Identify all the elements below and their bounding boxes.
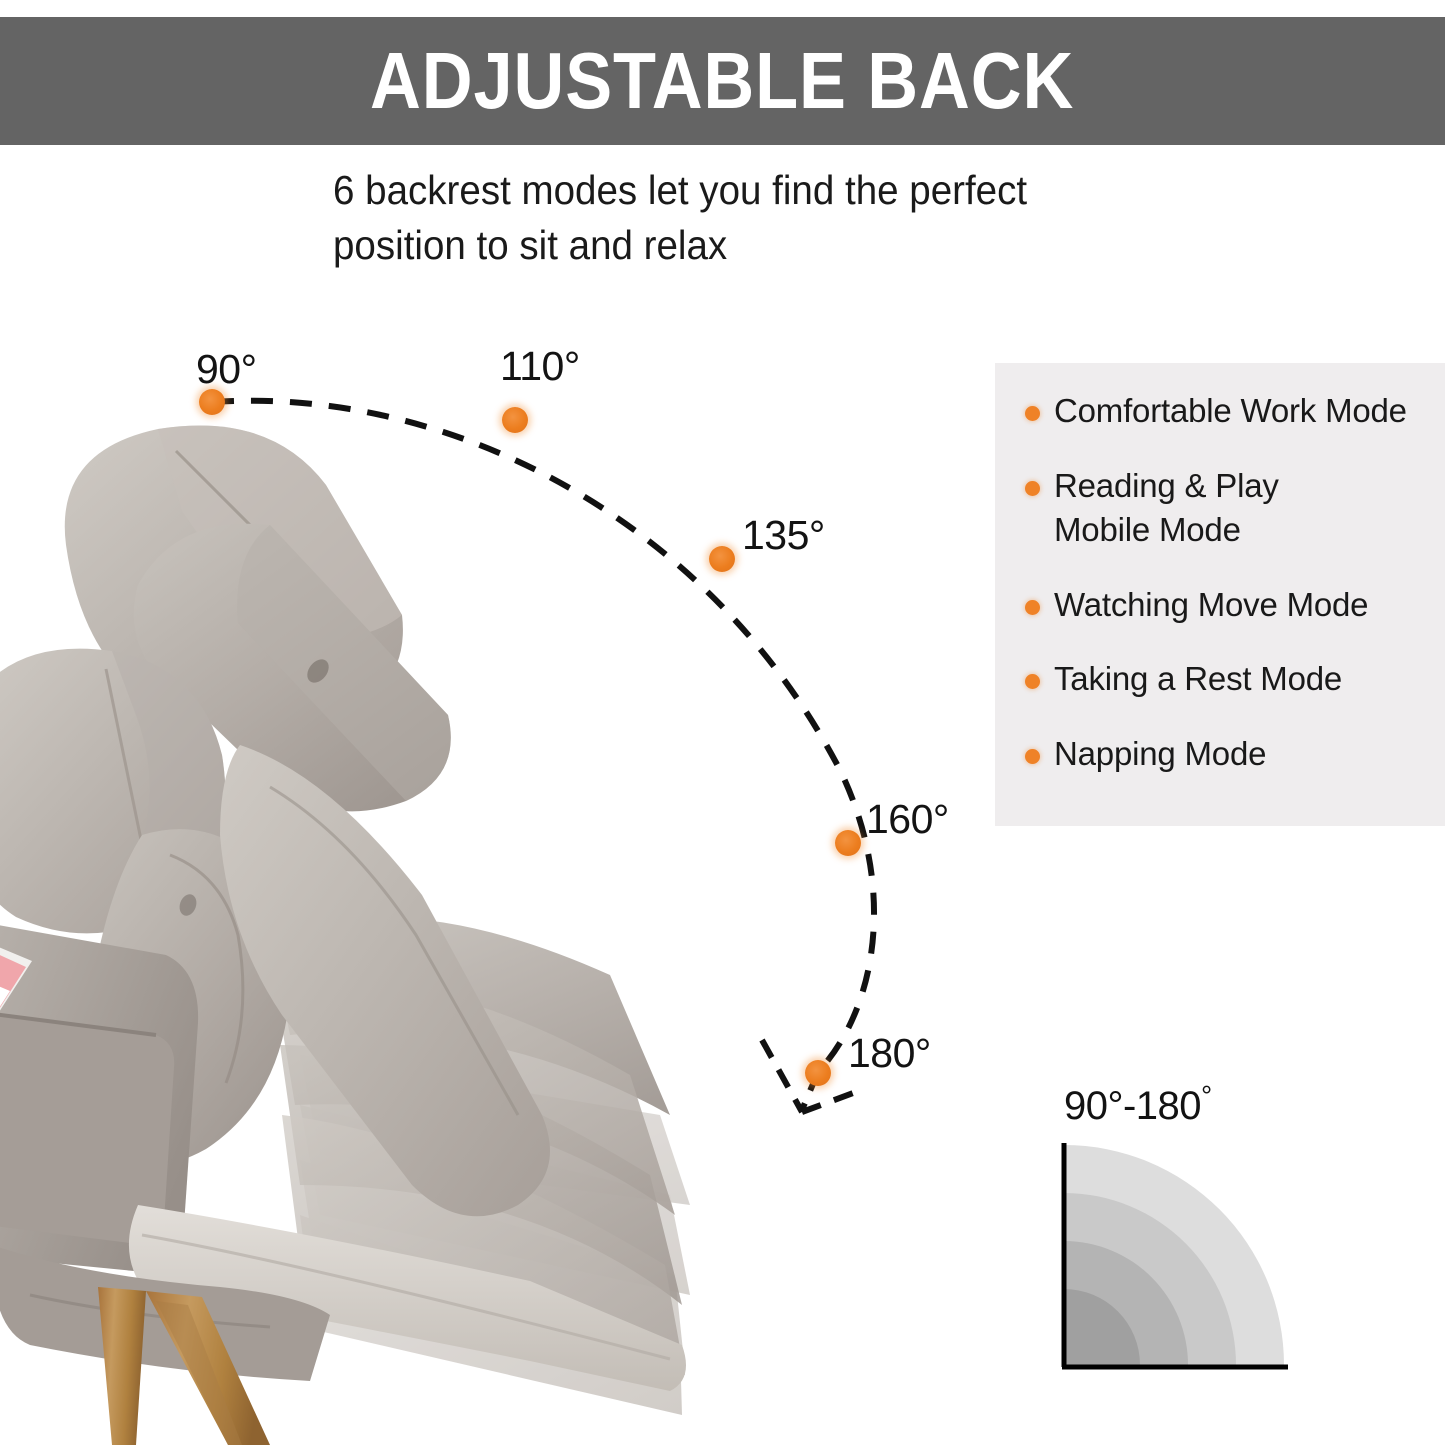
bullet-icon (1025, 481, 1040, 496)
gauge-range-text: 90°-180 (1064, 1084, 1201, 1128)
angle-label-135: 135° (742, 512, 825, 559)
mode-label: Reading & Play Mobile Mode (1054, 464, 1279, 553)
gauge-degree-icon: ° (1201, 1080, 1212, 1111)
angle-label-90: 90° (196, 346, 257, 393)
list-item: Comfortable Work Mode (1025, 389, 1437, 434)
page-title: ADJUSTABLE BACK (370, 41, 1074, 121)
mode-list-panel: Comfortable Work Mode Reading & Play Mob… (995, 363, 1445, 826)
gauge-range-label: 90°-180° (1064, 1080, 1212, 1129)
mode-label: Watching Move Mode (1054, 583, 1368, 628)
arrow-wing-right (802, 1092, 856, 1112)
list-item: Reading & Play Mobile Mode (1025, 464, 1437, 553)
arrow-wing-left (762, 1040, 802, 1112)
mode-label: Taking a Rest Mode (1054, 657, 1342, 702)
angle-label-160: 160° (866, 796, 949, 843)
angle-dot-135 (709, 546, 735, 572)
gauge-artwork (1060, 1137, 1320, 1377)
bullet-icon (1025, 674, 1040, 689)
angle-dot-180 (805, 1060, 831, 1086)
infographic-canvas: ADJUSTABLE BACK 6 backrest modes let you… (0, 0, 1445, 1445)
subtitle-line-2: position to sit and relax (333, 218, 1160, 273)
list-item: Taking a Rest Mode (1025, 657, 1437, 702)
chair-product-photo (0, 415, 730, 1445)
mode-list: Comfortable Work Mode Reading & Play Mob… (1025, 389, 1437, 776)
angle-label-180: 180° (848, 1030, 931, 1077)
angle-label-110: 110° (500, 343, 580, 390)
chair-leg-rear (98, 1287, 146, 1445)
mode-label: Napping Mode (1054, 732, 1266, 777)
angle-dot-160 (835, 830, 861, 856)
angle-dot-110 (502, 407, 528, 433)
bullet-icon (1025, 749, 1040, 764)
mode-label: Comfortable Work Mode (1054, 389, 1407, 434)
list-item: Napping Mode (1025, 732, 1437, 777)
subtitle-line-1: 6 backrest modes let you find the perfec… (333, 163, 1160, 218)
bullet-icon (1025, 406, 1040, 421)
subtitle: 6 backrest modes let you find the perfec… (333, 163, 1160, 273)
angle-range-gauge: 90°-180° (1040, 1080, 1340, 1380)
list-item: Watching Move Mode (1025, 583, 1437, 628)
bullet-icon (1025, 600, 1040, 615)
header-band: ADJUSTABLE BACK (0, 17, 1445, 145)
